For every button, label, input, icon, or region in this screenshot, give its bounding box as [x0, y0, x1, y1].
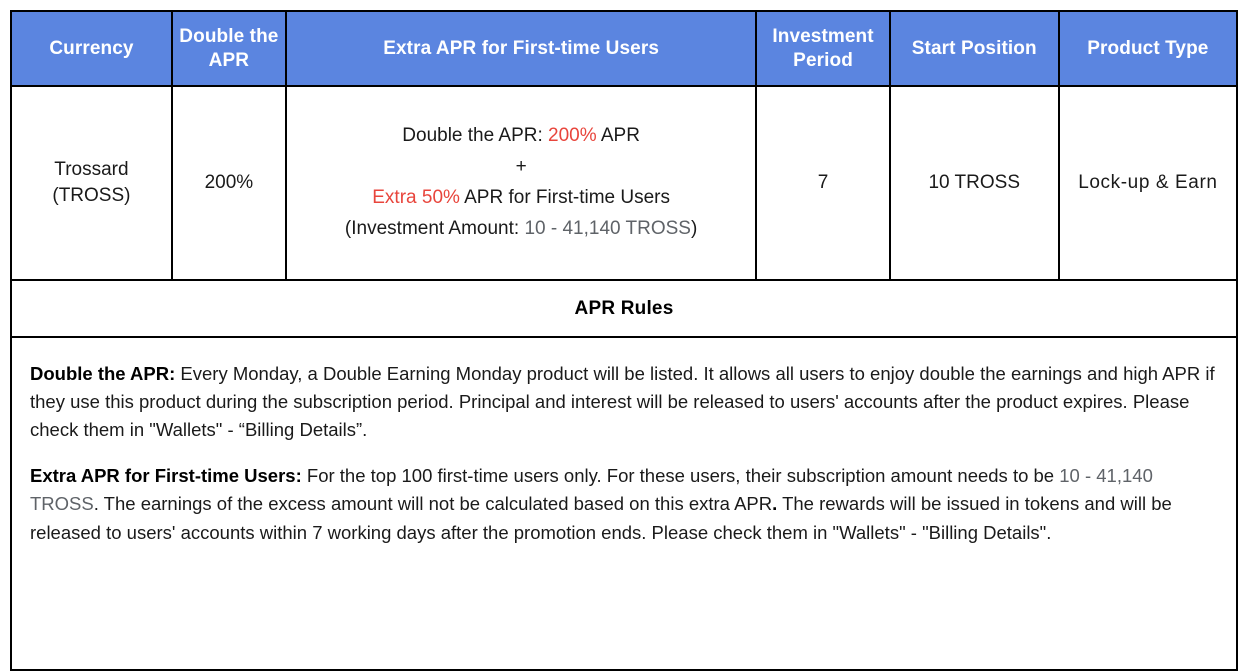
column-header-product-type: Product Type: [1059, 11, 1237, 86]
extra-apr-line3-highlight: Extra 50%: [372, 187, 460, 208]
column-header-extra-apr: Extra APR for First-time Users: [286, 11, 756, 86]
promotion-details-table: Currency Double the APR Extra APR for Fi…: [10, 10, 1238, 671]
extra-apr-line1-highlight: 200%: [548, 125, 597, 146]
rule-extra-apr-body-part2: . The earnings of the excess amount will…: [94, 493, 772, 514]
column-header-double-apr: Double the APR: [172, 11, 286, 86]
apr-rules-body: Double the APR: Every Monday, a Double E…: [11, 337, 1237, 670]
extra-apr-line1-suffix: APR: [597, 125, 640, 146]
extra-apr-line1-prefix: Double the APR:: [402, 125, 548, 146]
cell-currency: Trossard (TROSS): [11, 86, 172, 280]
table-body: Trossard (TROSS) 200% Double the APR: 20…: [11, 86, 1237, 670]
apr-rules-title-row: APR Rules: [11, 280, 1237, 337]
extra-apr-plus-sign: +: [287, 152, 755, 183]
apr-rules-body-row: Double the APR: Every Monday, a Double E…: [11, 337, 1237, 670]
cell-investment-period: 7: [756, 86, 889, 280]
rule-extra-apr-lead: Extra APR for First-time Users:: [30, 465, 302, 486]
cell-double-apr: 200%: [172, 86, 286, 280]
table-row: Trossard (TROSS) 200% Double the APR: 20…: [11, 86, 1237, 280]
apr-rules-title: APR Rules: [11, 280, 1237, 337]
extra-apr-line3-suffix: APR for First-time Users: [460, 187, 670, 208]
rule-extra-apr-first-time-users: Extra APR for First-time Users: For the …: [30, 462, 1218, 546]
currency-name: Trossard: [12, 157, 171, 183]
extra-apr-line-1: Double the APR: 200% APR: [287, 121, 755, 152]
table-header: Currency Double the APR Extra APR for Fi…: [11, 11, 1237, 86]
rule-double-the-apr: Double the APR: Every Monday, a Double E…: [30, 360, 1218, 444]
investment-amount-suffix: ): [691, 218, 697, 239]
extra-apr-line-3: Extra 50% APR for First-time Users: [287, 183, 755, 214]
column-header-start-position: Start Position: [890, 11, 1059, 86]
extra-apr-investment-amount-line: (Investment Amount: 10 - 41,140 TROSS): [287, 214, 755, 245]
investment-amount-value: 10 - 41,140 TROSS: [524, 218, 691, 239]
cell-product-type: Lock-up & Earn: [1059, 86, 1237, 280]
cell-start-position: 10 TROSS: [890, 86, 1059, 280]
rule-double-the-apr-lead: Double the APR:: [30, 363, 175, 384]
column-header-investment-period: Investment Period: [756, 11, 889, 86]
rule-double-the-apr-body: Every Monday, a Double Earning Monday pr…: [30, 363, 1215, 440]
table-header-row: Currency Double the APR Extra APR for Fi…: [11, 11, 1237, 86]
promotion-table-page: Currency Double the APR Extra APR for Fi…: [0, 0, 1248, 656]
investment-amount-prefix: (Investment Amount:: [345, 218, 525, 239]
cell-extra-apr: Double the APR: 200% APR + Extra 50% APR…: [286, 86, 756, 280]
rule-extra-apr-body-part1: For the top 100 first-time users only. F…: [302, 465, 1060, 486]
column-header-currency: Currency: [11, 11, 172, 86]
currency-ticker: (TROSS): [12, 183, 171, 209]
